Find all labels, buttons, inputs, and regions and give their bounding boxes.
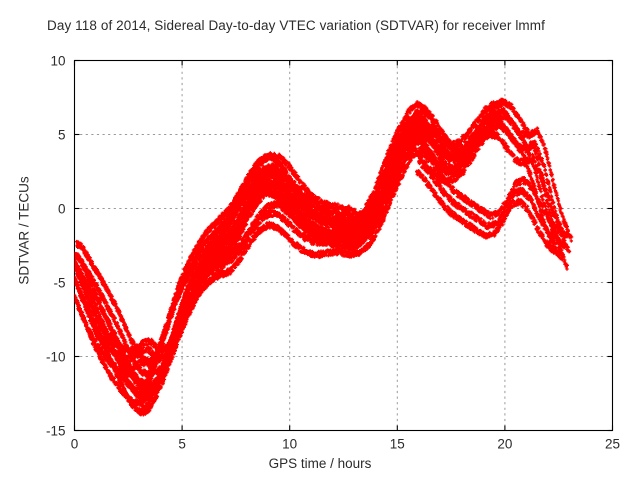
svg-text:-10: -10 [46,350,66,365]
svg-text:0: 0 [71,437,79,452]
chart-page: Day 118 of 2014, Sidereal Day-to-day VTE… [0,0,640,480]
svg-text:5: 5 [178,437,186,452]
svg-text:15: 15 [390,437,405,452]
svg-text:-15: -15 [46,424,66,439]
svg-text:10: 10 [282,437,297,452]
svg-text:5: 5 [58,128,66,143]
svg-text:20: 20 [497,437,512,452]
svg-text:-5: -5 [53,276,65,291]
data-points [73,98,574,417]
svg-text:25: 25 [605,437,620,452]
svg-text:10: 10 [50,54,65,69]
svg-text:0: 0 [58,202,66,217]
scatter-plot: 05101520251050-5-10-15 [0,0,640,480]
